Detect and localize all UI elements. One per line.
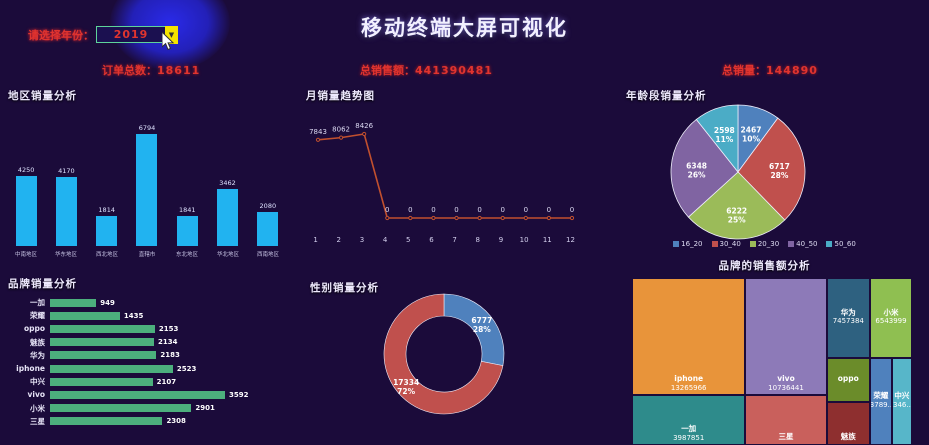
brand-bar-label: 中兴 bbox=[6, 376, 50, 387]
brand-bar[interactable] bbox=[50, 312, 120, 320]
region-bar-label: 华北地区 bbox=[216, 249, 238, 257]
brand-bar[interactable] bbox=[50, 351, 156, 359]
chart-region-sales-title: 地区销量分析 bbox=[8, 88, 77, 103]
treemap-tile[interactable]: 小米6543999 bbox=[870, 278, 912, 358]
legend-swatch-icon bbox=[826, 241, 832, 247]
donut-slice-label: 28% bbox=[473, 325, 491, 334]
region-bar-value: 1841 bbox=[179, 206, 196, 214]
brand-bar-row: 中兴2107 bbox=[6, 375, 290, 388]
treemap-tile-value: 346.. bbox=[893, 401, 911, 409]
treemap-tile-name: 荣耀 bbox=[873, 392, 888, 401]
brand-bar-label: 一加 bbox=[6, 297, 50, 308]
age-pie-legend: 16_2030_4020_3040_5050_60 bbox=[600, 240, 929, 248]
month-tick-label: 8 bbox=[466, 236, 489, 244]
region-bar[interactable] bbox=[56, 177, 77, 246]
brand-bar[interactable] bbox=[50, 378, 153, 386]
treemap-tile-name: vivo bbox=[777, 375, 795, 384]
brand-bar[interactable] bbox=[50, 338, 154, 346]
treemap-tile[interactable]: 荣耀3789.. bbox=[870, 358, 892, 445]
svg-text:0: 0 bbox=[408, 206, 412, 214]
brand-bar-row: iphone2523 bbox=[6, 362, 290, 375]
brand-bar-row: 小米2901 bbox=[6, 402, 290, 415]
chart-brand-quantity-title: 品牌销量分析 bbox=[8, 276, 77, 291]
month-tick-label: 12 bbox=[559, 236, 582, 244]
donut-slice-label: 72% bbox=[397, 387, 415, 396]
region-bar[interactable] bbox=[136, 134, 157, 246]
svg-text:0: 0 bbox=[547, 206, 551, 214]
region-bar-column: 1841东北地区 bbox=[170, 110, 204, 258]
region-bar-label: 西南地区 bbox=[257, 249, 279, 257]
month-tick-label: 6 bbox=[420, 236, 443, 244]
region-bar-label: 东北地区 bbox=[176, 249, 198, 257]
brand-bar-label: 小米 bbox=[6, 403, 50, 414]
pie-slice-label: 26% bbox=[688, 171, 706, 180]
region-bar[interactable] bbox=[217, 189, 238, 246]
brand-bar-value: 3592 bbox=[229, 391, 248, 399]
region-bar-label: 华东地区 bbox=[55, 249, 77, 257]
treemap-tile[interactable]: 中兴346.. bbox=[892, 358, 912, 445]
year-filter-label: 请选择年份： bbox=[28, 27, 94, 43]
brand-bars: 一加949荣耀1435oppo2153魅族2134华为2183iphone252… bbox=[6, 296, 290, 428]
treemap-tile-name: 三星 bbox=[778, 433, 793, 442]
brand-bar-value: 1435 bbox=[124, 312, 143, 320]
year-select-value: 2019 bbox=[114, 28, 149, 41]
pie-slice-label: 6717 bbox=[769, 162, 790, 171]
year-select[interactable]: 2019 ▼ bbox=[96, 26, 166, 43]
brand-bar-row: vivo3592 bbox=[6, 388, 290, 401]
pie-legend-item[interactable]: 40_50 bbox=[788, 240, 817, 248]
month-tick-label: 11 bbox=[536, 236, 559, 244]
brand-bar-label: oppo bbox=[6, 324, 50, 333]
pie-slice-label: 11% bbox=[715, 135, 733, 144]
chart-region-sales: 地区销量分析 4250中南地区4170华东地区1814西北地区6794直辖市18… bbox=[0, 88, 292, 260]
svg-text:0: 0 bbox=[570, 206, 574, 214]
brand-bar-value: 2107 bbox=[157, 378, 176, 386]
pie-legend-label: 30_40 bbox=[720, 240, 741, 248]
stat-total-orders-value: 18611 bbox=[157, 64, 200, 77]
region-bar[interactable] bbox=[96, 216, 117, 246]
brand-bar-row: 荣耀1435 bbox=[6, 309, 290, 322]
stat-total-sales-value: 441390481 bbox=[415, 64, 493, 77]
legend-swatch-icon bbox=[788, 241, 794, 247]
legend-swatch-icon bbox=[750, 241, 756, 247]
pie-legend-label: 20_30 bbox=[758, 240, 779, 248]
treemap-tile-name: iphone bbox=[674, 375, 703, 384]
chart-age-pie-title: 年龄段销量分析 bbox=[626, 88, 707, 103]
month-tick-label: 2 bbox=[327, 236, 350, 244]
svg-text:0: 0 bbox=[385, 206, 389, 214]
treemap-tile-name: oppo bbox=[838, 375, 859, 384]
brand-bar-label: vivo bbox=[6, 390, 50, 399]
brand-bar-row: 华为2183 bbox=[6, 349, 290, 362]
month-tick-label: 4 bbox=[374, 236, 397, 244]
chart-monthly-trend: 月销量趋势图 784380628426000000000 12345678910… bbox=[296, 88, 588, 260]
pie-slice-label: 10% bbox=[742, 135, 760, 144]
treemap-tile[interactable]: iphone13265966 bbox=[632, 278, 745, 395]
region-bars: 4250中南地区4170华东地区1814西北地区6794直辖市1841东北地区3… bbox=[6, 110, 288, 258]
region-bar[interactable] bbox=[177, 216, 198, 246]
treemap-tile-value: 13265966 bbox=[671, 384, 707, 392]
chart-age-pie: 年龄段销量分析 246710%671728%622225%634826%2598… bbox=[600, 88, 929, 260]
pie-slice-label: 6222 bbox=[726, 207, 747, 216]
region-bar-label: 西北地区 bbox=[96, 249, 118, 257]
legend-swatch-icon bbox=[712, 241, 718, 247]
region-bar[interactable] bbox=[257, 212, 278, 246]
stat-total-quantity-label: 总销量： bbox=[722, 64, 766, 77]
brand-bar-value: 2134 bbox=[158, 338, 177, 346]
year-filter[interactable]: 请选择年份： 2019 ▼ bbox=[28, 26, 166, 43]
brand-bar-label: 三星 bbox=[6, 416, 50, 427]
region-bar[interactable] bbox=[16, 176, 37, 246]
legend-swatch-icon bbox=[673, 241, 679, 247]
region-bar-column: 6794直辖市 bbox=[130, 110, 164, 258]
month-tick-label: 5 bbox=[397, 236, 420, 244]
brand-bar[interactable] bbox=[50, 365, 173, 373]
treemap-tile[interactable]: 三星 bbox=[745, 395, 826, 445]
brand-bar-row: 三星2308 bbox=[6, 415, 290, 428]
svg-text:8426: 8426 bbox=[355, 122, 373, 130]
region-bar-value: 4250 bbox=[18, 166, 35, 174]
region-bar-column: 3462华北地区 bbox=[211, 110, 245, 258]
treemap-tile-name: 魅族 bbox=[841, 433, 856, 442]
treemap-tile-name: 一加 bbox=[681, 425, 696, 434]
region-bar-value: 1814 bbox=[98, 206, 115, 214]
treemap-tile-value: 10736441 bbox=[768, 384, 804, 392]
brand-bar-value: 2153 bbox=[159, 325, 178, 333]
treemap-tile-value: 7457384 bbox=[833, 317, 864, 325]
chart-brand-sales-treemap-title: 品牌的销售额分析 bbox=[600, 258, 929, 273]
brand-bar[interactable] bbox=[50, 417, 162, 425]
pie-legend-label: 16_20 bbox=[681, 240, 702, 248]
pie-slice-label: 6348 bbox=[686, 162, 707, 171]
brand-bar-value: 2308 bbox=[166, 417, 185, 425]
treemap-tile[interactable]: 华为7457384 bbox=[827, 278, 870, 358]
region-bar-value: 4170 bbox=[58, 167, 75, 175]
pie-slice-label: 2467 bbox=[741, 126, 762, 135]
brand-bar-row: 魅族2134 bbox=[6, 336, 290, 349]
svg-text:8062: 8062 bbox=[332, 126, 350, 134]
month-tick-label: 9 bbox=[489, 236, 512, 244]
brand-bar-value: 949 bbox=[100, 299, 115, 307]
brand-bar-row: 一加949 bbox=[6, 296, 290, 309]
brand-bar[interactable] bbox=[50, 299, 96, 307]
pie-legend-label: 40_50 bbox=[796, 240, 817, 248]
treemap-tiles: iphone13265966vivo10736441华为7457384小米654… bbox=[632, 278, 912, 445]
stat-total-quantity-value: 144890 bbox=[766, 64, 818, 77]
chart-brand-sales-treemap: 品牌的销售额分析 iphone13265966vivo10736441华为745… bbox=[600, 258, 929, 445]
month-tick-label: 1 bbox=[304, 236, 327, 244]
donut-slice-label: 17334 bbox=[393, 378, 419, 387]
treemap-tile-name: 华为 bbox=[841, 309, 856, 318]
region-bar-column: 1814西北地区 bbox=[90, 110, 124, 258]
stat-total-orders: 订单总数：18611 bbox=[102, 62, 200, 78]
svg-text:7843: 7843 bbox=[309, 128, 327, 136]
treemap-tile[interactable]: oppo bbox=[827, 358, 870, 401]
pie-slice-label: 28% bbox=[770, 171, 788, 180]
month-tick-label: 10 bbox=[513, 236, 536, 244]
svg-text:0: 0 bbox=[500, 206, 504, 214]
pie-legend-item[interactable]: 50_60 bbox=[826, 240, 855, 248]
age-pie-plot: 246710%671728%622225%634826%259811% bbox=[666, 102, 810, 248]
svg-text:0: 0 bbox=[524, 206, 528, 214]
pie-slice-label: 25% bbox=[728, 216, 746, 225]
chart-gender-donut: 性别销量分析 677728%1733472% bbox=[296, 276, 588, 445]
region-bar-column: 4250中南地区 bbox=[9, 110, 43, 258]
monthly-trend-xaxis: 123456789101112 bbox=[304, 236, 582, 244]
pie-legend-item[interactable]: 20_30 bbox=[750, 240, 779, 248]
stat-total-sales: 总销售额：441390481 bbox=[360, 62, 493, 78]
brand-bar-value: 2901 bbox=[195, 404, 214, 412]
chart-gender-donut-title: 性别销量分析 bbox=[310, 280, 379, 295]
stat-total-sales-label: 总销售额： bbox=[360, 64, 415, 77]
chart-brand-quantity: 品牌销量分析 一加949荣耀1435oppo2153魅族2134华为2183ip… bbox=[0, 276, 292, 445]
treemap-tile[interactable]: 魅族 bbox=[827, 402, 870, 445]
treemap-tile-value: 3987851 bbox=[673, 434, 704, 442]
brand-bar-row: oppo2153 bbox=[6, 322, 290, 335]
treemap-tile-value: 6543999 bbox=[875, 317, 906, 325]
pie-legend-item[interactable]: 30_40 bbox=[712, 240, 741, 248]
treemap-tile-value: 3789.. bbox=[870, 401, 892, 409]
brand-bar-value: 2183 bbox=[160, 351, 179, 359]
treemap-tile-name: 小米 bbox=[884, 309, 899, 318]
brand-bar-label: iphone bbox=[6, 364, 50, 373]
stat-total-orders-label: 订单总数： bbox=[102, 64, 157, 77]
brand-bar-value: 2523 bbox=[177, 365, 196, 373]
pie-legend-item[interactable]: 16_20 bbox=[673, 240, 702, 248]
treemap-tile-name: 中兴 bbox=[894, 392, 909, 401]
region-bar-column: 4170华东地区 bbox=[49, 110, 83, 258]
gender-donut-plot: 677728%1733472% bbox=[380, 290, 508, 422]
treemap-tile[interactable]: vivo10736441 bbox=[745, 278, 826, 395]
region-bar-value: 3462 bbox=[219, 179, 236, 187]
pie-legend-label: 50_60 bbox=[834, 240, 855, 248]
pie-slice-label: 2598 bbox=[714, 126, 735, 135]
brand-bar[interactable] bbox=[50, 325, 155, 333]
brand-bar[interactable] bbox=[50, 391, 225, 399]
monthly-trend-plot: 784380628426000000000 bbox=[304, 106, 582, 256]
svg-text:0: 0 bbox=[454, 206, 458, 214]
brand-bar[interactable] bbox=[50, 404, 191, 412]
region-bar-column: 2080西南地区 bbox=[251, 110, 285, 258]
month-tick-label: 3 bbox=[350, 236, 373, 244]
month-tick-label: 7 bbox=[443, 236, 466, 244]
brand-bar-label: 荣耀 bbox=[6, 310, 50, 321]
region-bar-label: 直辖市 bbox=[139, 249, 156, 257]
region-bar-value: 2080 bbox=[260, 202, 277, 210]
stat-total-quantity: 总销量：144890 bbox=[722, 62, 818, 78]
donut-slice-label: 6777 bbox=[471, 316, 492, 325]
region-bar-label: 中南地区 bbox=[15, 249, 37, 257]
chart-monthly-trend-title: 月销量趋势图 bbox=[306, 88, 375, 103]
svg-text:0: 0 bbox=[431, 206, 435, 214]
brand-bar-label: 魅族 bbox=[6, 337, 50, 348]
region-bar-value: 6794 bbox=[139, 124, 156, 132]
brand-bar-label: 华为 bbox=[6, 350, 50, 361]
treemap-tile[interactable]: 一加3987851 bbox=[632, 395, 745, 445]
svg-text:0: 0 bbox=[477, 206, 481, 214]
